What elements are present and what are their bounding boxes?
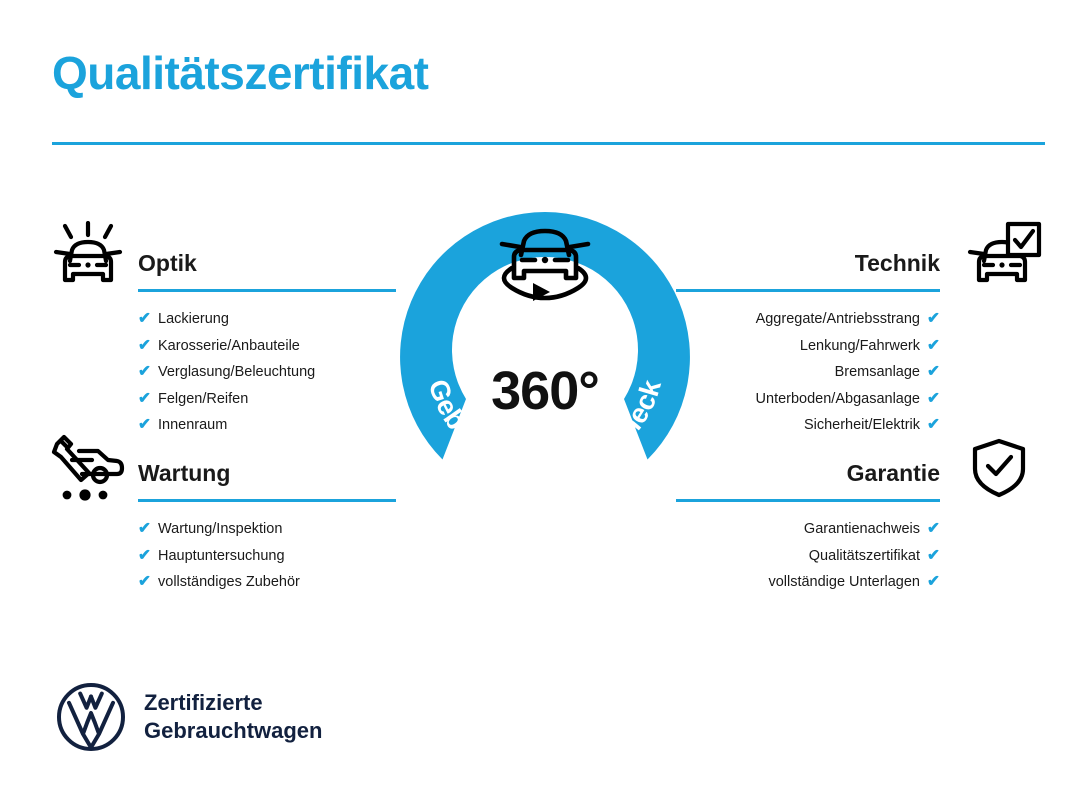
list-item: ✔Felgen/Reifen: [138, 386, 396, 413]
list-item-label: Lenkung/Fahrwerk: [800, 334, 920, 360]
list-item: Unterboden/Abgasanlage✔: [676, 386, 940, 413]
list-item: vollständige Unterlagen✔: [676, 569, 940, 596]
check-icon: ✔: [138, 306, 151, 332]
vw-wordmark-line1: Zertifizierte: [144, 689, 322, 717]
check-icon: ✔: [927, 386, 940, 412]
section-optik-head: Optik: [138, 248, 396, 292]
badge-360-check: Gebrauchtwagen-Check 360°: [400, 212, 690, 502]
vw-logo: [56, 682, 126, 752]
vw-wordmark: Zertifizierte Gebrauchtwagen: [144, 689, 322, 745]
list-item: Qualitätszertifikat✔: [676, 543, 940, 570]
list-item-label: Verglasung/Beleuchtung: [158, 360, 315, 386]
list-item: ✔Verglasung/Beleuchtung: [138, 359, 396, 386]
vw-lockup: Zertifizierte Gebrauchtwagen: [56, 682, 322, 752]
list-item-label: Felgen/Reifen: [158, 387, 248, 413]
car-service-tool-icon: [48, 432, 128, 504]
check-icon: ✔: [927, 359, 940, 385]
section-garantie-title: Garantie: [676, 458, 940, 488]
list-item-label: Unterboden/Abgasanlage: [756, 387, 920, 413]
car-rotate-icon: [478, 220, 612, 310]
list-item-label: vollständige Unterlagen: [768, 570, 920, 596]
section-optik-divider: [138, 289, 396, 292]
check-icon: ✔: [138, 543, 151, 569]
section-wartung: Wartung ✔Wartung/Inspektion ✔Hauptunters…: [138, 458, 396, 596]
check-icon: ✔: [927, 543, 940, 569]
list-item: Bremsanlage✔: [676, 359, 940, 386]
section-garantie-divider: [676, 499, 940, 502]
vw-wordmark-line2: Gebrauchtwagen: [144, 717, 322, 745]
section-garantie: Garantie Garantienachweis✔ Qualitätszert…: [676, 458, 940, 596]
section-garantie-head: Garantie: [676, 458, 940, 502]
section-garantie-list: Garantienachweis✔ Qualitätszertifikat✔ v…: [676, 516, 940, 596]
car-checkbox-icon: [962, 221, 1042, 293]
section-technik-divider: [676, 289, 940, 292]
list-item-label: Garantienachweis: [804, 517, 920, 543]
list-item: ✔vollständiges Zubehör: [138, 569, 396, 596]
list-item-label: Qualitätszertifikat: [809, 544, 920, 570]
section-technik-list: Aggregate/Antriebsstrang✔ Lenkung/Fahrwe…: [676, 306, 940, 439]
section-wartung-list: ✔Wartung/Inspektion ✔Hauptuntersuchung ✔…: [138, 516, 396, 596]
check-icon: ✔: [138, 386, 151, 412]
list-item: ✔Lackierung: [138, 306, 396, 333]
list-item: Garantienachweis✔: [676, 516, 940, 543]
list-item-label: Hauptuntersuchung: [158, 544, 285, 570]
section-technik-head: Technik: [676, 248, 940, 292]
list-item-label: vollständiges Zubehör: [158, 570, 300, 596]
section-wartung-divider: [138, 499, 396, 502]
section-wartung-title: Wartung: [138, 458, 396, 488]
check-icon: ✔: [927, 412, 940, 438]
certificate-page: Qualitätszertifikat Optik ✔Lackierung ✔K…: [0, 0, 1080, 810]
list-item: Aggregate/Antriebsstrang✔: [676, 306, 940, 333]
section-wartung-head: Wartung: [138, 458, 396, 502]
check-icon: ✔: [138, 516, 151, 542]
section-technik-title: Technik: [676, 248, 940, 278]
check-icon: ✔: [927, 306, 940, 332]
car-shine-icon: [48, 221, 128, 293]
list-item: Sicherheit/Elektrik✔: [676, 412, 940, 439]
check-icon: ✔: [927, 569, 940, 595]
badge-center-label: 360°: [400, 360, 690, 422]
check-icon: ✔: [138, 569, 151, 595]
section-technik: Technik Aggregate/Antriebsstrang✔ Lenkun…: [676, 248, 940, 439]
list-item-label: Karosserie/Anbauteile: [158, 334, 300, 360]
list-item-label: Bremsanlage: [835, 360, 920, 386]
list-item: ✔Karosserie/Anbauteile: [138, 333, 396, 360]
section-optik-title: Optik: [138, 248, 396, 278]
list-item-label: Lackierung: [158, 307, 229, 333]
header-divider: [52, 142, 1045, 145]
list-item: Lenkung/Fahrwerk✔: [676, 333, 940, 360]
list-item-label: Sicherheit/Elektrik: [804, 413, 920, 439]
list-item: ✔Innenraum: [138, 412, 396, 439]
check-icon: ✔: [927, 516, 940, 542]
list-item-label: Innenraum: [158, 413, 227, 439]
list-item-label: Aggregate/Antriebsstrang: [756, 307, 920, 333]
list-item: ✔Hauptuntersuchung: [138, 543, 396, 570]
check-icon: ✔: [927, 333, 940, 359]
page-title: Qualitätszertifikat: [52, 48, 429, 99]
list-item: ✔Wartung/Inspektion: [138, 516, 396, 543]
shield-check-icon: [968, 437, 1030, 499]
check-icon: ✔: [138, 359, 151, 385]
section-optik-list: ✔Lackierung ✔Karosserie/Anbauteile ✔Verg…: [138, 306, 396, 439]
section-optik: Optik ✔Lackierung ✔Karosserie/Anbauteile…: [138, 248, 396, 439]
list-item-label: Wartung/Inspektion: [158, 517, 282, 543]
check-icon: ✔: [138, 333, 151, 359]
check-icon: ✔: [138, 412, 151, 438]
